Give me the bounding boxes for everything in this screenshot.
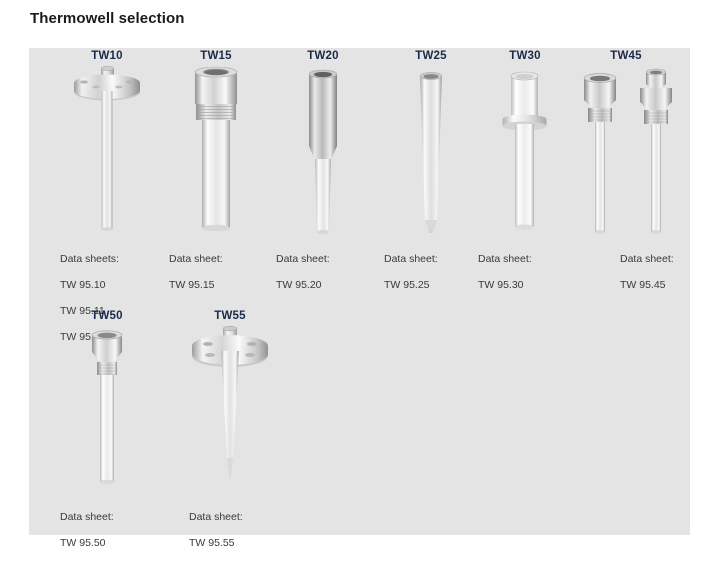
thermowell-card-tw50[interactable]: TW50 [48, 310, 166, 486]
thermowell-union-nut-icon [83, 326, 131, 486]
caption-heading: Data sheet: [60, 511, 114, 524]
thermowell-caption-tw25: Data sheet: TW 95.25 [384, 240, 438, 305]
thermowell-card-tw15[interactable]: TW15 [157, 50, 275, 231]
thermowell-card-tw45[interactable]: TW45 [562, 50, 690, 241]
caption-line: TW 95.20 [276, 279, 330, 292]
thermowell-stepped-icon [293, 62, 353, 237]
thermowell-label-tw20: TW20 [264, 50, 382, 62]
thermowell-caption-tw50: Data sheet: TW 95.50 [60, 498, 114, 563]
caption-heading: Data sheets: [60, 253, 119, 266]
caption-line: TW 95.45 [620, 279, 674, 292]
thermowell-label-tw10: TW10 [48, 50, 166, 62]
thermowell-compression-fitting-variant-icon [632, 66, 680, 236]
caption-line: TW 95.25 [384, 279, 438, 292]
thermowell-flanged-tapered-icon [180, 326, 280, 486]
thermowell-caption-tw55: Data sheet: TW 95.55 [189, 498, 243, 563]
caption-heading: Data sheet: [384, 253, 438, 266]
thermowell-threaded-straight-icon [181, 66, 251, 231]
thermowell-gallery-panel: TW10 [29, 48, 690, 535]
caption-line: TW 95.30 [478, 279, 532, 292]
thermowell-card-tw55[interactable]: TW55 [157, 310, 303, 486]
thermowell-label-tw50: TW50 [48, 310, 166, 322]
caption-heading: Data sheet: [189, 511, 243, 524]
thermowell-card-tw10[interactable]: TW10 [48, 50, 166, 231]
caption-line: TW 95.10 [60, 279, 119, 292]
page-title: Thermowell selection [30, 10, 185, 27]
thermowell-flanged-straight-icon [57, 66, 157, 231]
thermowell-caption-tw20: Data sheet: TW 95.20 [276, 240, 330, 305]
thermowell-label-tw45: TW45 [562, 50, 690, 62]
thermowell-weld-in-collar-icon [494, 62, 556, 237]
thermowell-tapered-icon [406, 62, 456, 237]
caption-line: TW 95.55 [189, 537, 243, 550]
caption-line: TW 95.50 [60, 537, 114, 550]
caption-heading: Data sheet: [478, 253, 532, 266]
thermowell-caption-tw15: Data sheet: TW 95.15 [169, 240, 223, 305]
caption-line: TW 95.15 [169, 279, 223, 292]
caption-heading: Data sheet: [169, 253, 223, 266]
thermowell-card-tw20[interactable]: TW20 [264, 50, 382, 237]
caption-heading: Data sheet: [620, 253, 674, 266]
thermowell-caption-tw45: Data sheet: TW 95.45 [620, 240, 674, 305]
thermowell-caption-tw30: Data sheet: TW 95.30 [478, 240, 532, 305]
thermowell-label-tw15: TW15 [157, 50, 275, 62]
thermowell-label-tw55: TW55 [157, 310, 303, 322]
caption-heading: Data sheet: [276, 253, 330, 266]
thermowell-compression-fitting-icon [576, 66, 624, 236]
